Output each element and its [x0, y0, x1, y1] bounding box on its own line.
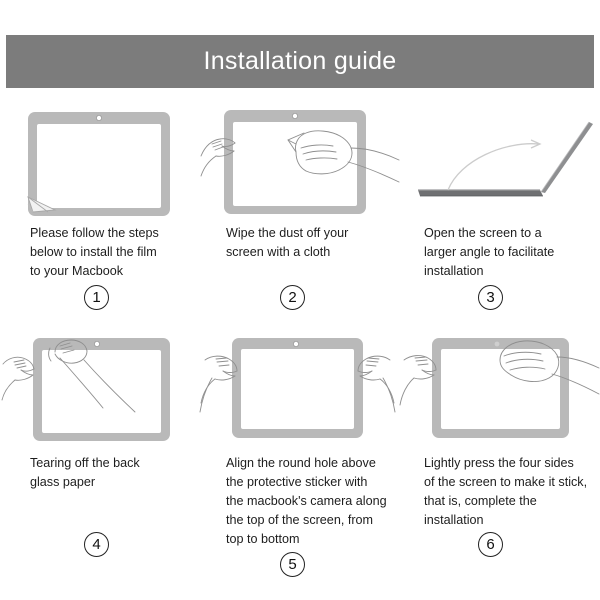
step-4-illustration [0, 330, 200, 448]
step-number-badge: 1 [84, 285, 109, 310]
step-4: Tearing off the back glass paper 4 [0, 330, 200, 580]
caption-line: screen with a cloth [226, 243, 394, 262]
caption-line: larger angle to facilitate [424, 243, 594, 262]
caption-line: Tearing off the back [30, 454, 194, 473]
step-1: Please follow the steps below to install… [0, 100, 200, 330]
step-2-illustration [200, 100, 400, 218]
step-3-illustration [400, 100, 600, 218]
step-5-illustration [200, 330, 400, 448]
caption-line: the top of the screen, from [226, 511, 394, 530]
caption-line: that is, complete the installation [424, 492, 594, 530]
step-number-badge: 3 [478, 285, 503, 310]
step-number-badge: 4 [84, 532, 109, 557]
caption-line: the protective sticker with [226, 473, 394, 492]
caption-line: the macbook's camera along [226, 492, 394, 511]
caption-line: below to install the film [30, 243, 194, 262]
step-1-illustration [0, 100, 200, 218]
step-3: Open the screen to a larger angle to fac… [400, 100, 600, 330]
step-number-badge: 2 [280, 285, 305, 310]
step-6-caption: Lightly press the four sides of the scre… [400, 454, 600, 530]
caption-line: Open the screen to a [424, 224, 594, 243]
caption-line: glass paper [30, 473, 194, 492]
steps-row-1: Please follow the steps below to install… [0, 100, 600, 330]
caption-line: Wipe the dust off your [226, 224, 394, 243]
header-banner: Installation guide [6, 35, 594, 88]
step-2: Wipe the dust off your screen with a clo… [200, 100, 400, 330]
step-4-caption: Tearing off the back glass paper [0, 454, 200, 492]
caption-line: top to bottom [226, 530, 394, 549]
caption-line: to your Macbook [30, 262, 194, 281]
installation-guide-page: Installation guide [0, 0, 600, 600]
step-6-illustration [400, 330, 600, 448]
page-title: Installation guide [203, 49, 396, 74]
step-6: Lightly press the four sides of the scre… [400, 330, 600, 580]
step-number-badge: 6 [478, 532, 503, 557]
caption-line: Align the round hole above [226, 454, 394, 473]
caption-line: installation [424, 262, 594, 281]
step-2-caption: Wipe the dust off your screen with a clo… [200, 224, 400, 262]
steps-row-2: Tearing off the back glass paper 4 [0, 330, 600, 580]
steps-grid: Please follow the steps below to install… [0, 100, 600, 580]
step-number-badge: 5 [280, 552, 305, 577]
caption-line: Please follow the steps [30, 224, 194, 243]
step-1-caption: Please follow the steps below to install… [0, 224, 200, 281]
caption-line: Lightly press the four sides [424, 454, 594, 473]
step-5-caption: Align the round hole above the protectiv… [200, 454, 400, 549]
step-3-caption: Open the screen to a larger angle to fac… [400, 224, 600, 281]
caption-line: of the screen to make it stick, [424, 473, 594, 492]
step-5: Align the round hole above the protectiv… [200, 330, 400, 580]
